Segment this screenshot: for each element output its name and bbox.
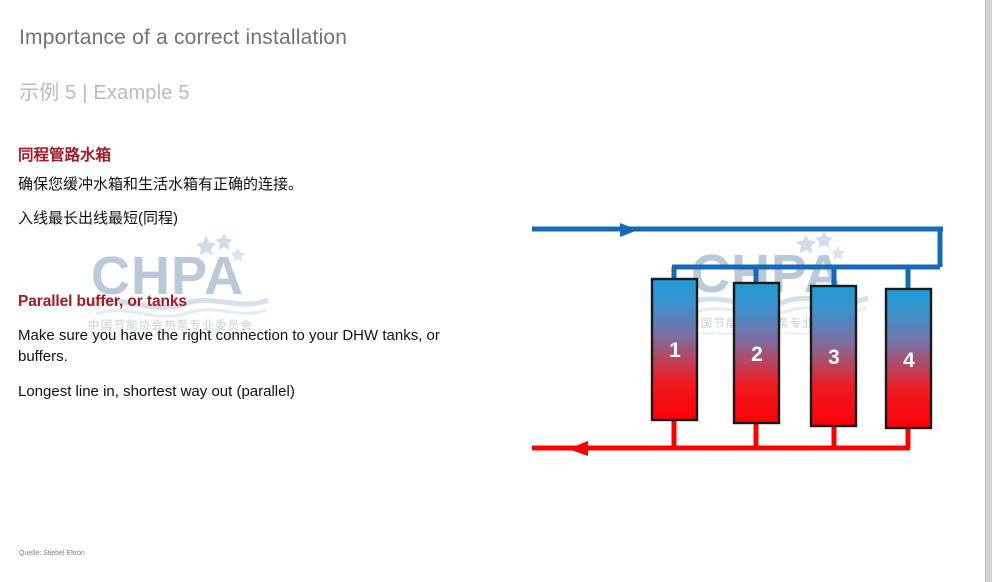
slide-canvas: Importance of a correct installation 示例 … (0, 0, 985, 582)
chinese-section-heading: 同程管路水箱 (18, 143, 111, 165)
tank-3-label: 3 (828, 346, 840, 369)
english-body-line-1: Make sure you have the right connection … (18, 325, 488, 367)
chpa-stars-icon (196, 233, 245, 262)
page-edge-strip (985, 0, 992, 582)
source-note: Quelle: Stiebel Eltron (19, 550, 85, 557)
chpa-watermark-left: CHPA 中国节能协会热泵专业委员会 Heat Pump Committee o… (88, 232, 270, 337)
english-body-line-2: Longest line in, shortest way out (paral… (18, 381, 488, 402)
page-title: Importance of a correct installation (19, 26, 347, 50)
tank-4-label: 4 (903, 349, 915, 372)
chinese-body-line-2: 入线最长出线最短(同程) (18, 208, 478, 229)
tank-3: 3 (811, 286, 856, 426)
chinese-body-line-1: 确保您缓冲水箱和生活水箱有正确的连接。 (18, 174, 478, 195)
english-section-heading: Parallel buffer, or tanks (18, 293, 187, 311)
tank-4: 4 (886, 289, 931, 428)
hydraulic-diagram: 1 2 3 4 (520, 205, 985, 470)
tank-1-label: 1 (669, 339, 681, 362)
tank-2-label: 2 (751, 343, 763, 366)
tank-1: 1 (652, 279, 697, 420)
tank-2: 2 (734, 283, 779, 423)
page-subtitle: 示例 5 | Example 5 (19, 76, 190, 105)
